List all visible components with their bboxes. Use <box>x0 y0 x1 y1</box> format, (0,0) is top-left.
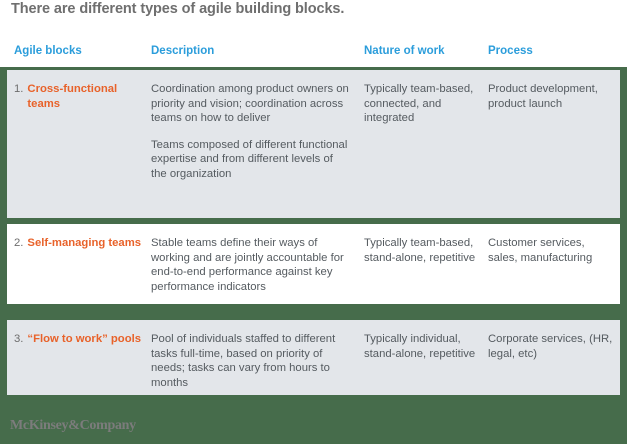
cell-agile-block: 1. Cross-functional teams <box>14 82 144 111</box>
cell-description: Stable teams define their ways of workin… <box>151 236 351 294</box>
table-header-row: Agile blocks Description Nature of work … <box>0 45 627 67</box>
cell-nature-of-work: Typically team-based, stand-alone, repet… <box>364 236 476 265</box>
cell-agile-block: 2. Self-managing teams <box>14 236 144 251</box>
table-row: 2. Self-managing teams Stable teams defi… <box>7 224 620 304</box>
table-row: 3. “Flow to work” pools Pool of individu… <box>7 320 620 395</box>
block-number: 1. <box>14 82 27 97</box>
column-header-process: Process <box>488 45 533 57</box>
cell-description: Coordination among product owners on pri… <box>151 82 351 182</box>
description-paragraph: Coordination among product owners on pri… <box>151 82 351 126</box>
cell-nature-of-work: Typically individual, stand-alone, repet… <box>364 332 476 361</box>
cell-process: Corporate services, (HR, legal, etc) <box>488 332 616 361</box>
page-title: There are different types of agile build… <box>11 1 611 17</box>
table-row: 1. Cross-functional teams Coordination a… <box>7 70 620 218</box>
slide-canvas: There are different types of agile build… <box>0 0 627 444</box>
block-number: 3. <box>14 332 27 347</box>
cell-description: Pool of individuals staffed to different… <box>151 332 351 390</box>
cell-process: Customer services, sales, manufacturing <box>488 236 616 265</box>
block-name: “Flow to work” pools <box>27 332 141 347</box>
block-name: Cross-functional teams <box>27 82 144 111</box>
description-paragraph: Stable teams define their ways of workin… <box>151 236 351 294</box>
description-paragraph: Teams composed of different functional e… <box>151 138 351 182</box>
column-header-agile-blocks: Agile blocks <box>14 45 82 57</box>
cell-nature-of-work: Typically team-based, connected, and int… <box>364 82 476 126</box>
column-header-nature-of-work: Nature of work <box>364 45 445 57</box>
cell-process: Product development, product launch <box>488 82 616 111</box>
cell-agile-block: 3. “Flow to work” pools <box>14 332 144 347</box>
mckinsey-logo: McKinsey&Company <box>10 418 136 434</box>
block-name: Self-managing teams <box>27 236 141 251</box>
description-paragraph: Pool of individuals staffed to different… <box>151 332 351 390</box>
column-header-description: Description <box>151 45 214 57</box>
block-number: 2. <box>14 236 27 251</box>
